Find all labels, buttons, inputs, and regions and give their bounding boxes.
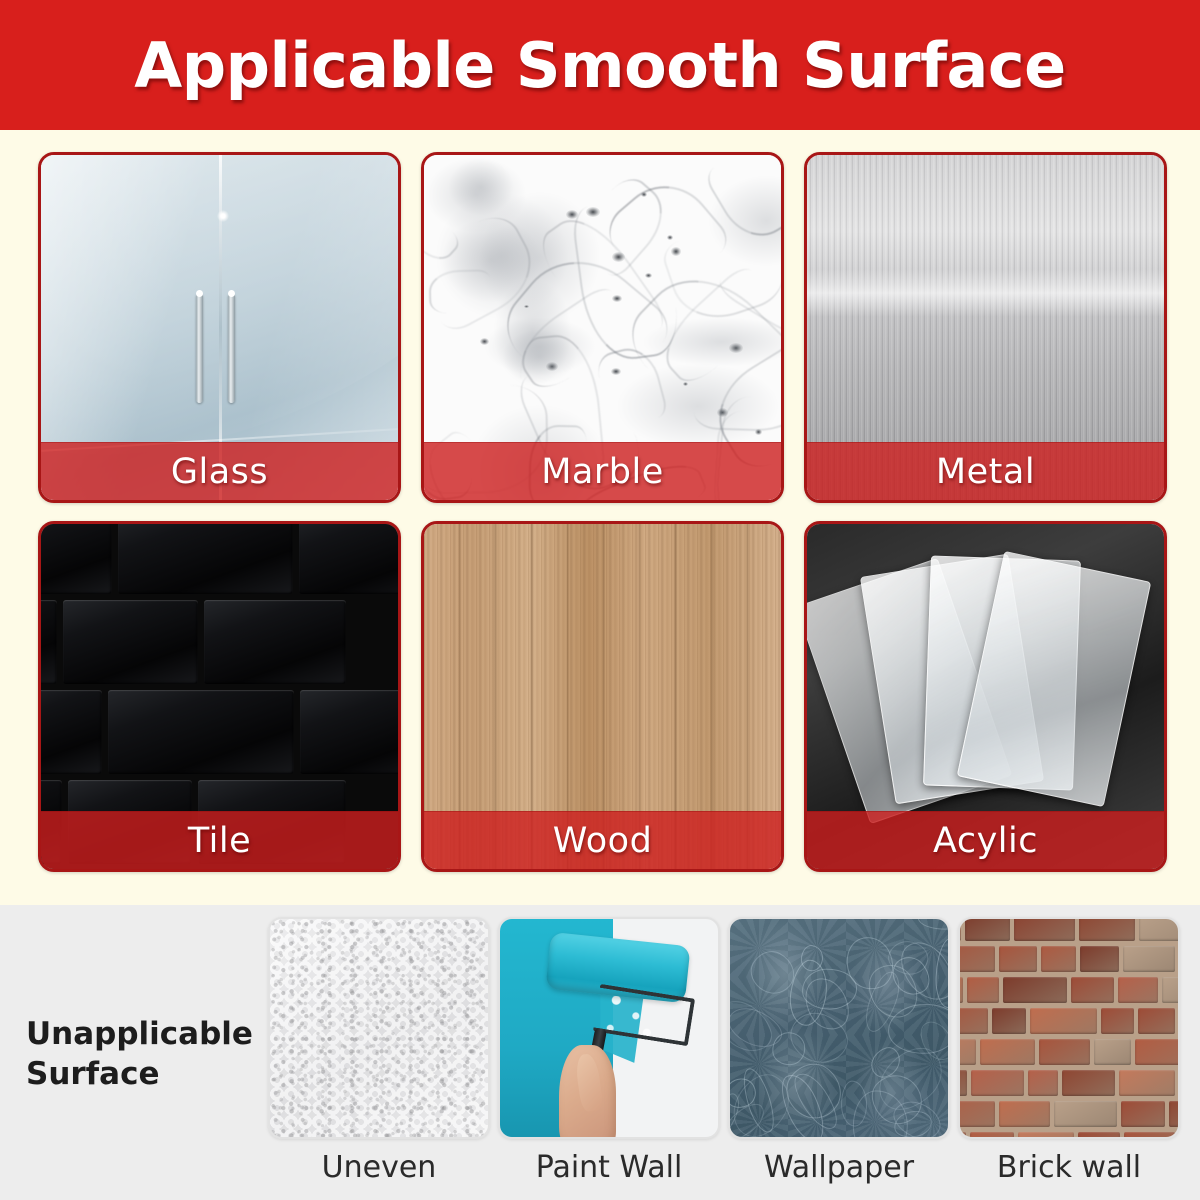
paint-wall-texture-image <box>498 917 720 1139</box>
brick-row <box>958 1132 1175 1139</box>
header-banner: Applicable Smooth Surface <box>0 0 1200 130</box>
unapplicable-caption-wallpaper: Wallpaper <box>764 1150 914 1185</box>
uneven-texture-image <box>268 917 490 1139</box>
tile-brick <box>41 600 57 684</box>
wallpaper-crackle <box>801 968 858 1011</box>
brick-unit <box>971 1070 1025 1096</box>
brick-unit <box>1124 1132 1174 1139</box>
brick-unit <box>1028 1070 1058 1096</box>
tile-brick <box>41 690 102 774</box>
unapplicable-thumb-grid: Uneven Paint Wall Wallpap <box>268 917 1180 1185</box>
surface-card-acrylic[interactable]: Acylic <box>804 521 1167 872</box>
brick-unit <box>1054 1101 1117 1127</box>
unapplicable-surfaces-section: Unapplicable Surface Uneven <box>0 905 1200 1200</box>
tile-brick <box>41 524 112 594</box>
card-label-marble: Marble <box>541 452 664 492</box>
brick-unit <box>958 1101 995 1127</box>
brick-unit <box>1014 917 1075 941</box>
surface-card-metal[interactable]: Metal <box>804 152 1167 503</box>
brick-unit <box>1071 977 1114 1003</box>
brick-row <box>958 1008 1175 1034</box>
card-label-band: Metal <box>807 442 1164 500</box>
brick-unit <box>1030 1008 1097 1034</box>
marble-speck <box>611 368 620 375</box>
marble-haze <box>502 329 577 384</box>
unapplicable-caption-brick-wall: Brick wall <box>997 1150 1141 1185</box>
glass-handle-right-icon <box>228 293 235 403</box>
brick-unit <box>999 946 1038 972</box>
marble-haze <box>616 363 780 449</box>
surface-card-wood[interactable]: Wood <box>421 521 784 872</box>
surface-card-grid: Glass Marble Metal <box>38 152 1166 872</box>
brick-unit <box>1121 1101 1165 1127</box>
unapplicable-item-brick-wall[interactable]: Brick wall <box>958 917 1180 1185</box>
tile-row <box>41 600 346 684</box>
brick-unit <box>967 977 999 1003</box>
card-label-tile: Tile <box>188 821 251 861</box>
brick-unit <box>958 917 961 941</box>
brick-unit <box>999 1101 1050 1127</box>
brick-unit <box>1080 946 1119 972</box>
tile-brick <box>118 524 293 594</box>
brick-row <box>958 1101 1180 1127</box>
marble-speck <box>641 192 647 197</box>
brick-unit <box>1119 1070 1175 1096</box>
brick-unit <box>1094 1039 1131 1065</box>
brick-row <box>958 1070 1175 1096</box>
brick-unit <box>1101 1008 1134 1034</box>
tile-brick <box>204 600 346 684</box>
surface-card-tile[interactable]: Tile <box>38 521 401 872</box>
brick-unit <box>992 1008 1026 1034</box>
tile-brick <box>108 690 294 774</box>
unapplicable-caption-paint-wall: Paint Wall <box>536 1150 683 1185</box>
brick-unit <box>1041 946 1076 972</box>
brick-row <box>958 977 1180 1003</box>
surface-card-glass[interactable]: Glass <box>38 152 401 503</box>
unapplicable-item-wallpaper[interactable]: Wallpaper <box>728 917 950 1185</box>
marble-speck <box>671 247 682 255</box>
marble-haze <box>425 157 526 234</box>
marble-speck <box>667 235 673 240</box>
brick-row <box>958 946 1175 972</box>
brick-unit <box>958 1008 988 1034</box>
brick-unit <box>958 946 995 972</box>
unapplicable-title: Unapplicable Surface <box>26 1015 276 1094</box>
brick-unit <box>1078 1132 1120 1139</box>
wallpaper-crackle <box>917 917 950 931</box>
card-label-wood: Wood <box>553 821 653 861</box>
page-title: Applicable Smooth Surface <box>134 29 1065 102</box>
card-label-band: Tile <box>41 811 398 869</box>
brick-unit <box>958 1070 967 1096</box>
unapplicable-caption-uneven: Uneven <box>322 1150 437 1185</box>
applicable-surfaces-section: Glass Marble Metal <box>0 130 1200 905</box>
brick-unit <box>1139 917 1180 941</box>
brick-unit <box>958 1039 976 1065</box>
brick-unit <box>1003 977 1067 1003</box>
card-label-band: Acylic <box>807 811 1164 869</box>
brick-unit <box>980 1039 1035 1065</box>
brick-unit <box>965 917 1009 941</box>
brick-row <box>958 1039 1180 1065</box>
brick-unit <box>1135 1039 1180 1065</box>
card-label-glass: Glass <box>171 452 268 492</box>
tile-row <box>41 690 398 774</box>
card-label-band: Marble <box>424 442 781 500</box>
unapplicable-item-paint-wall[interactable]: Paint Wall <box>498 917 720 1185</box>
unapplicable-item-uneven[interactable]: Uneven <box>268 917 490 1185</box>
unapplicable-title-line2: Surface <box>26 1055 276 1095</box>
tile-brick <box>300 690 398 774</box>
card-label-acrylic: Acylic <box>933 821 1038 861</box>
brick-unit <box>1018 1132 1074 1139</box>
brick-unit <box>1118 977 1158 1003</box>
brick-unit <box>1079 917 1135 941</box>
surface-card-marble[interactable]: Marble <box>421 152 784 503</box>
brick-unit <box>958 977 963 1003</box>
brick-wall-texture-image <box>958 917 1180 1139</box>
card-label-band: Glass <box>41 442 398 500</box>
brick-unit <box>970 1132 1015 1139</box>
brick-unit <box>1138 1008 1175 1034</box>
brick-unit <box>1062 1070 1114 1096</box>
glass-handle-left-icon <box>196 293 203 403</box>
tile-brick <box>63 600 197 684</box>
metal-sheen-band <box>807 269 1164 317</box>
brick-row <box>958 917 1180 941</box>
wallpaper-crackle <box>840 1081 867 1127</box>
tile-brick <box>299 524 398 594</box>
brick-unit <box>1039 1039 1090 1065</box>
card-label-band: Wood <box>424 811 781 869</box>
brick-unit <box>1123 946 1174 972</box>
brick-unit <box>958 1132 966 1139</box>
infographic-page: Applicable Smooth Surface Glass <box>0 0 1200 1200</box>
brick-unit <box>1162 977 1180 1003</box>
unapplicable-title-line1: Unapplicable <box>26 1015 276 1055</box>
brick-unit <box>1169 1101 1180 1127</box>
tile-row <box>41 524 398 594</box>
wallpaper-texture-image <box>728 917 950 1139</box>
card-label-metal: Metal <box>936 452 1035 492</box>
